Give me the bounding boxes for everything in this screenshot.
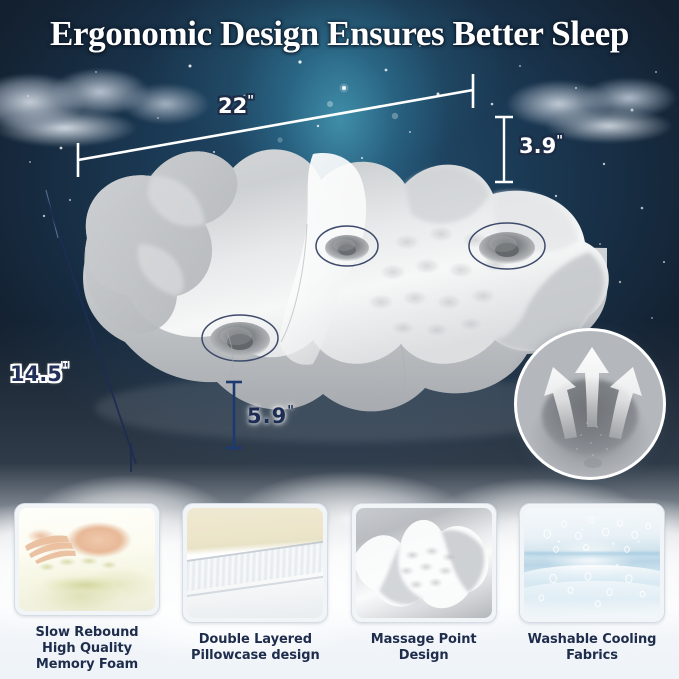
dimension-label-loft: 5.9": [247, 404, 294, 428]
water-droplets: [524, 508, 660, 618]
feature-double-layered[interactable]: Double Layered Pillowcase design: [180, 503, 330, 673]
image-memory-foam-hand: [19, 508, 155, 611]
airflow-arrow-left: [544, 367, 577, 439]
dimension-label-depth: 14.5": [10, 362, 69, 386]
ventilation-hole-center: [325, 235, 369, 261]
image-double-layer-pillowcase: [187, 508, 323, 618]
dimension-label-height: 3.9": [519, 134, 563, 158]
feature-washable-cooling[interactable]: Washable Cooling Fabrics: [517, 503, 667, 673]
caption-line-1: Washable Cooling Fabrics: [517, 632, 667, 664]
feature-frame-1[interactable]: [14, 503, 160, 616]
caption-line-2: Pillowcase design: [191, 648, 320, 664]
feature-caption-3: Massage Point Design: [349, 632, 499, 664]
ventilation-hole-left: [210, 322, 270, 358]
caption-line-1: Massage Point Design: [349, 632, 499, 664]
caption-line-2: High Quality Memory Foam: [12, 641, 162, 673]
airflow-arrow-center: [575, 347, 609, 427]
feature-caption-1: Slow Rebound High Quality Memory Foam: [12, 625, 162, 673]
ventilation-hole-right: [479, 232, 535, 264]
feature-slow-rebound[interactable]: Slow Rebound High Quality Memory Foam: [12, 503, 162, 673]
feature-frame-2[interactable]: [182, 503, 328, 623]
caption-line-1: Double Layered: [191, 632, 320, 648]
product-infographic: Ergonomic Design Ensures Better Sleep: [0, 0, 679, 679]
airflow-arrows: [517, 331, 666, 480]
dimension-label-width: 22": [218, 94, 254, 118]
feature-massage-point[interactable]: Massage Point Design: [349, 503, 499, 673]
image-massage-points: [356, 508, 492, 618]
caption-line-1: Slow Rebound: [12, 625, 162, 641]
feature-frame-3[interactable]: [351, 503, 497, 623]
airflow-magnifier: [514, 328, 666, 480]
feature-caption-4: Washable Cooling Fabrics: [517, 632, 667, 664]
page-title: Ergonomic Design Ensures Better Sleep: [0, 14, 679, 54]
image-water-splash: [524, 508, 660, 618]
feature-caption-2: Double Layered Pillowcase design: [191, 632, 320, 664]
foam-handprint: [29, 551, 141, 601]
feature-panel-row: Slow Rebound High Quality Memory Foam Do…: [0, 503, 679, 673]
airflow-arrow-right: [609, 367, 642, 439]
feature-frame-4[interactable]: [519, 503, 665, 623]
